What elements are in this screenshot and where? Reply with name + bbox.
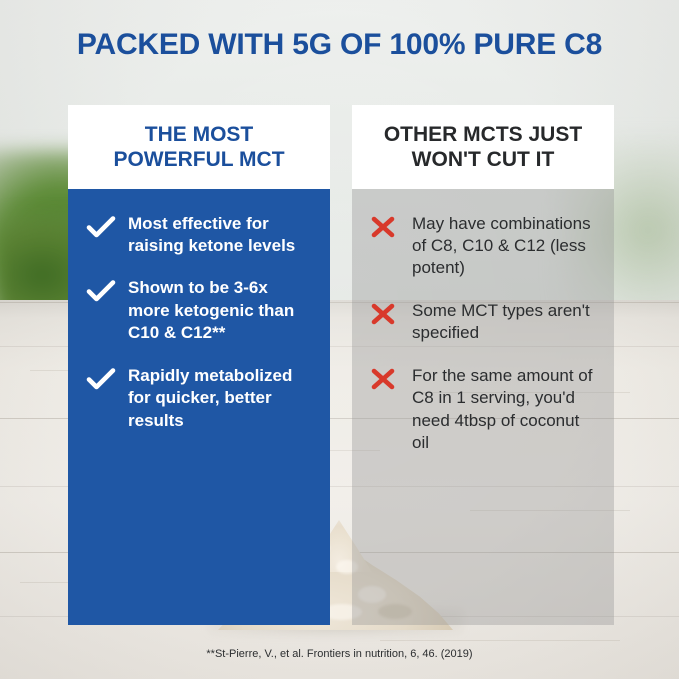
column-most-powerful-mct: THE MOST POWERFUL MCT Most effective for… [68, 105, 330, 625]
check-icon [86, 213, 116, 239]
list-item: For the same amount of C8 in 1 serving, … [370, 365, 596, 455]
cross-icon [370, 300, 400, 326]
product-infographic: PACKED WITH 5G OF 100% PURE C8 THE MOST … [0, 0, 679, 679]
check-icon [86, 277, 116, 303]
list-item: Some MCT types aren't specified [370, 300, 596, 345]
page-title: PACKED WITH 5G OF 100% PURE C8 [0, 28, 679, 62]
check-icon [86, 365, 116, 391]
list-item: Rapidly metabolized for quicker, better … [86, 365, 312, 432]
list-item: Shown to be 3-6x more ketogenic than C10… [86, 277, 312, 344]
list-item-label: Most effective for raising ketone levels [128, 213, 312, 258]
column-right-title: OTHER MCTS JUST WON'T CUT IT [366, 123, 600, 173]
cross-icon [370, 213, 400, 239]
list-item-label: Shown to be 3-6x more ketogenic than C10… [128, 277, 312, 344]
list-item-label: Rapidly metabolized for quicker, better … [128, 365, 312, 432]
column-left-header: THE MOST POWERFUL MCT [68, 105, 330, 189]
column-right-body: May have combinations of C8, C10 & C12 (… [352, 189, 614, 625]
list-item: May have combinations of C8, C10 & C12 (… [370, 213, 596, 280]
footnote-citation: **St-Pierre, V., et al. Frontiers in nut… [0, 648, 679, 660]
cross-icon [370, 365, 400, 391]
list-item: Most effective for raising ketone levels [86, 213, 312, 258]
column-left-body: Most effective for raising ketone levels… [68, 189, 330, 625]
list-item-label: May have combinations of C8, C10 & C12 (… [412, 213, 596, 280]
list-item-label: For the same amount of C8 in 1 serving, … [412, 365, 596, 455]
column-right-header: OTHER MCTS JUST WON'T CUT IT [352, 105, 614, 189]
column-left-title: THE MOST POWERFUL MCT [82, 123, 316, 173]
list-item-label: Some MCT types aren't specified [412, 300, 596, 345]
column-other-mcts: OTHER MCTS JUST WON'T CUT IT May have co… [352, 105, 614, 625]
